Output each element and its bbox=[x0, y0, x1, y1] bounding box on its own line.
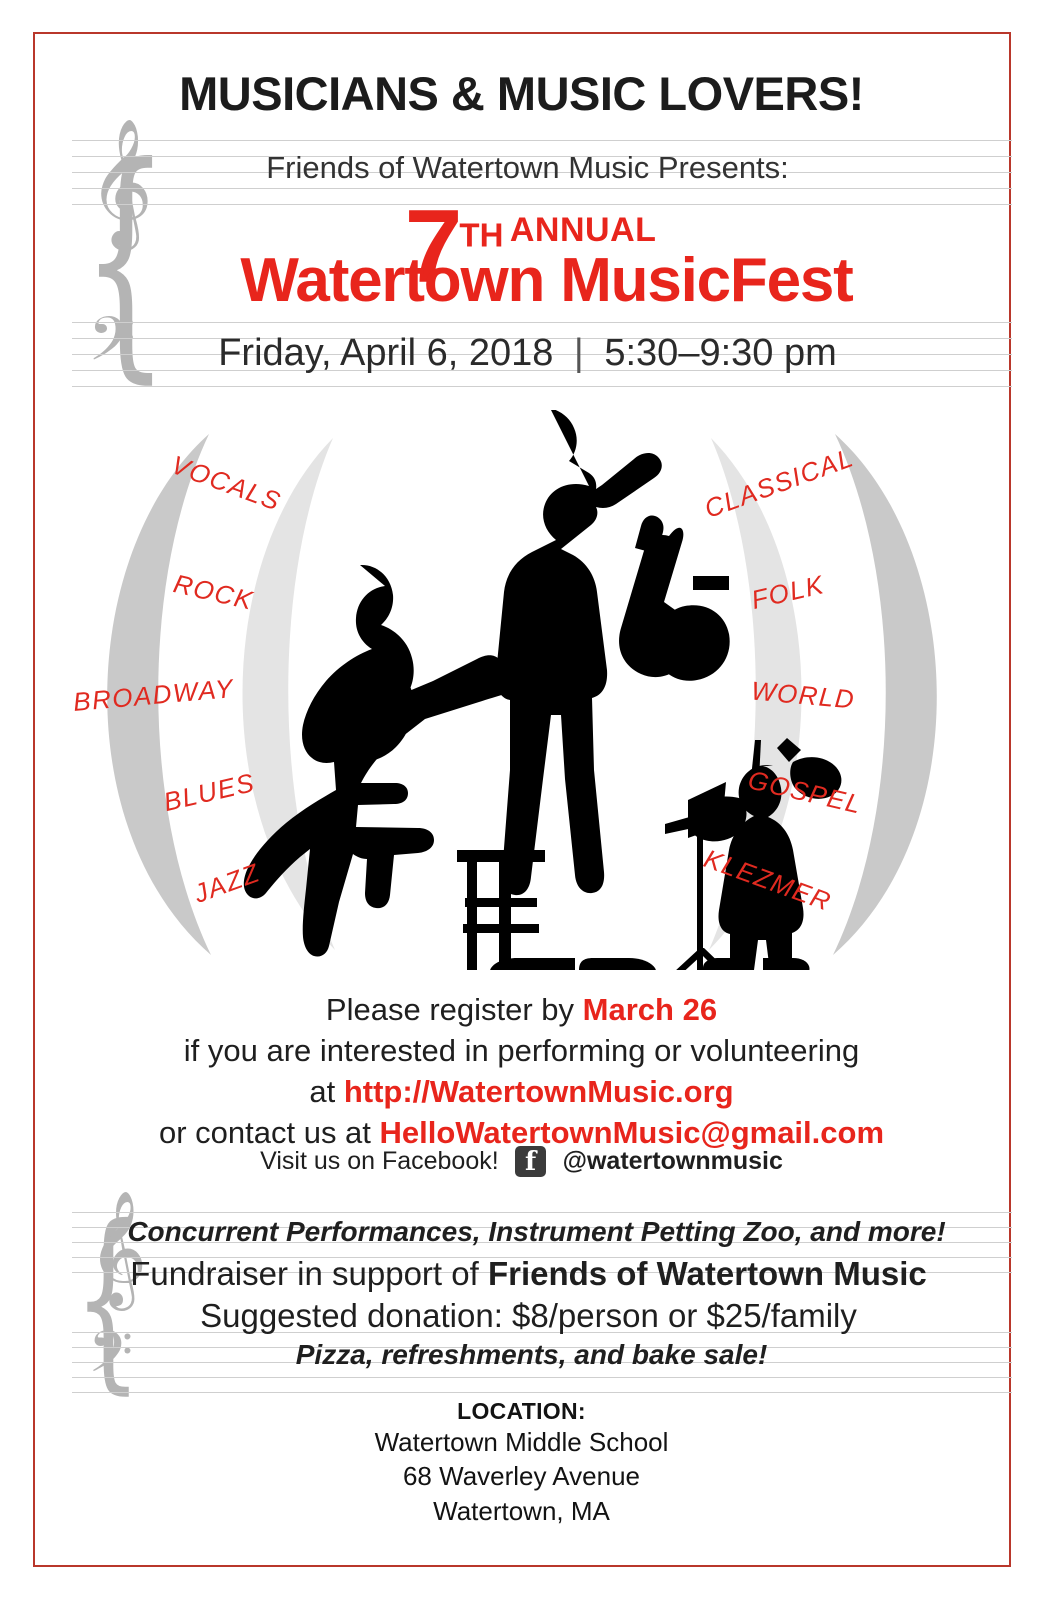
website-prefix: at bbox=[309, 1074, 343, 1109]
location-city-state: Watertown, MA bbox=[0, 1494, 1043, 1528]
concurrent-activities: Concurrent Performances, Instrument Pett… bbox=[0, 1216, 1043, 1248]
fundraiser-org: Friends of Watertown Music bbox=[488, 1255, 927, 1292]
website-link[interactable]: http://WatertownMusic.org bbox=[344, 1074, 734, 1109]
fundraiser-prefix: Fundraiser in support of bbox=[130, 1255, 488, 1292]
event-time: 5:30–9:30 pm bbox=[604, 332, 836, 374]
register-prefix: Please register by bbox=[326, 992, 583, 1027]
registration-line-2: if you are interested in performing or v… bbox=[0, 1031, 1043, 1072]
poster-canvas: MUSICIANS & MUSIC LOVERS! { 𝄞 𝄢 Friends … bbox=[0, 0, 1043, 1600]
event-date: Friday, April 6, 2018 bbox=[218, 332, 553, 374]
fundraiser-block: Fundraiser in support of Friends of Wate… bbox=[0, 1255, 1043, 1335]
fundraiser-line: Fundraiser in support of Friends of Wate… bbox=[14, 1255, 1043, 1293]
location-street: 68 Waverley Avenue bbox=[0, 1459, 1043, 1493]
register-deadline: March 26 bbox=[583, 992, 717, 1027]
location-heading: LOCATION: bbox=[0, 1398, 1043, 1425]
facebook-label: Visit us on Facebook! bbox=[260, 1147, 499, 1175]
presenter-line: Friends of Watertown Music Presents: bbox=[0, 150, 1043, 186]
donation-line: Suggested donation: $8/person or $25/fam… bbox=[14, 1297, 1043, 1335]
facebook-handle[interactable]: @watertownmusic bbox=[563, 1147, 783, 1175]
registration-line-1: Please register by March 26 bbox=[0, 990, 1043, 1031]
artwork-area: VOCALS ROCK BROADWAY BLUES JAZZ CLASSICA… bbox=[33, 410, 1011, 970]
email-link[interactable]: HelloWatertownMusic@gmail.com bbox=[380, 1115, 884, 1150]
saxophonist-silhouette bbox=[490, 410, 730, 970]
facebook-icon[interactable]: f bbox=[515, 1146, 546, 1177]
location-venue: Watertown Middle School bbox=[0, 1425, 1043, 1459]
festival-name: Watertown MusicFest bbox=[0, 245, 1043, 316]
registration-block: Please register by March 26 if you are i… bbox=[0, 990, 1043, 1154]
food-line: Pizza, refreshments, and bake sale! bbox=[0, 1339, 1043, 1371]
facebook-row: Visit us on Facebook! f @watertownmusic bbox=[0, 1146, 1043, 1177]
facebook-f-glyph: f bbox=[515, 1147, 546, 1177]
email-prefix: or contact us at bbox=[159, 1115, 380, 1150]
location-block: LOCATION: Watertown Middle School 68 Wav… bbox=[0, 1398, 1043, 1528]
datetime-separator: | bbox=[564, 332, 594, 374]
event-datetime: Friday, April 6, 2018 | 5:30–9:30 pm bbox=[0, 332, 1043, 375]
registration-line-3: at http://WatertownMusic.org bbox=[0, 1072, 1043, 1113]
